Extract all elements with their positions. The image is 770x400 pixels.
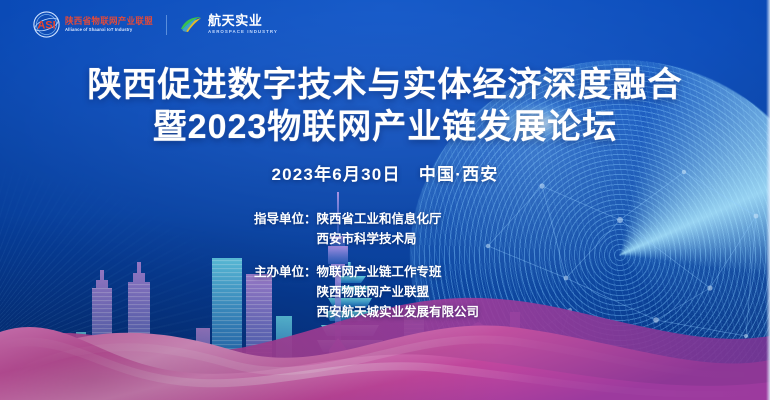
organizer-item: 物联网产业链工作专班 <box>317 262 480 282</box>
organizer-values-host: 物联网产业链工作专班 陕西物联网产业联盟 西安航天城实业发展有限公司 <box>317 262 480 323</box>
asi-emblem-icon: ASI <box>33 11 60 38</box>
event-date-location: 2023年6月30日 中国·西安 <box>0 160 770 185</box>
organizer-values-guidance: 陕西省工业和信息化厅 西安市科学技术局 <box>317 209 442 250</box>
organizer-item: 陕西省工业和信息化厅 <box>317 209 442 229</box>
aerospace-logo-cn-text: 航天实业 <box>208 14 278 27</box>
shaanxi-iot-alliance-logo: ASI 陕西省物联网产业联盟 Alliance of Shaanxi IoT I… <box>33 11 153 38</box>
logo-divider <box>166 15 167 35</box>
organizer-group-guidance: 指导单位： 陕西省工业和信息化厅 西安市科学技术局 <box>254 209 516 250</box>
right-edge-highlight <box>766 0 770 400</box>
svg-text:ASI: ASI <box>37 20 55 32</box>
asi-logo-en-text: Alliance of Shaanxi IoT Industry <box>65 28 153 32</box>
aerospace-logo-en-text: AEROSPACE INDUSTRY <box>208 30 278 34</box>
organizer-label-guidance: 指导单位： <box>254 209 317 229</box>
title-line-1: 陕西促进数字技术与实体经济深度融合 <box>0 66 770 105</box>
conference-poster: ASI 陕西省物联网产业联盟 Alliance of Shaanxi IoT I… <box>0 0 770 400</box>
aerospace-swoosh-icon <box>180 16 202 33</box>
organizer-group-host: 主办单位： 物联网产业链工作专班 陕西物联网产业联盟 西安航天城实业发展有限公司 <box>254 262 516 323</box>
organizer-item: 西安市科学技术局 <box>317 229 442 249</box>
organizer-item: 陕西物联网产业联盟 <box>317 282 480 302</box>
organizer-section: 指导单位： 陕西省工业和信息化厅 西安市科学技术局 主办单位： 物联网产业链工作… <box>0 209 770 334</box>
organizer-item: 西安航天城实业发展有限公司 <box>317 302 480 322</box>
organizer-label-host: 主办单位： <box>254 262 317 282</box>
aerospace-industry-logo: 航天实业 AEROSPACE INDUSTRY <box>180 14 278 34</box>
logo-bar: ASI 陕西省物联网产业联盟 Alliance of Shaanxi IoT I… <box>33 11 278 38</box>
title-line-2: 暨2023物联网产业链发展论坛 <box>0 108 770 147</box>
poster-title: 陕西促进数字技术与实体经济深度融合 暨2023物联网产业链发展论坛 <box>0 66 770 148</box>
asi-logo-cn-text: 陕西省物联网产业联盟 <box>65 17 153 26</box>
